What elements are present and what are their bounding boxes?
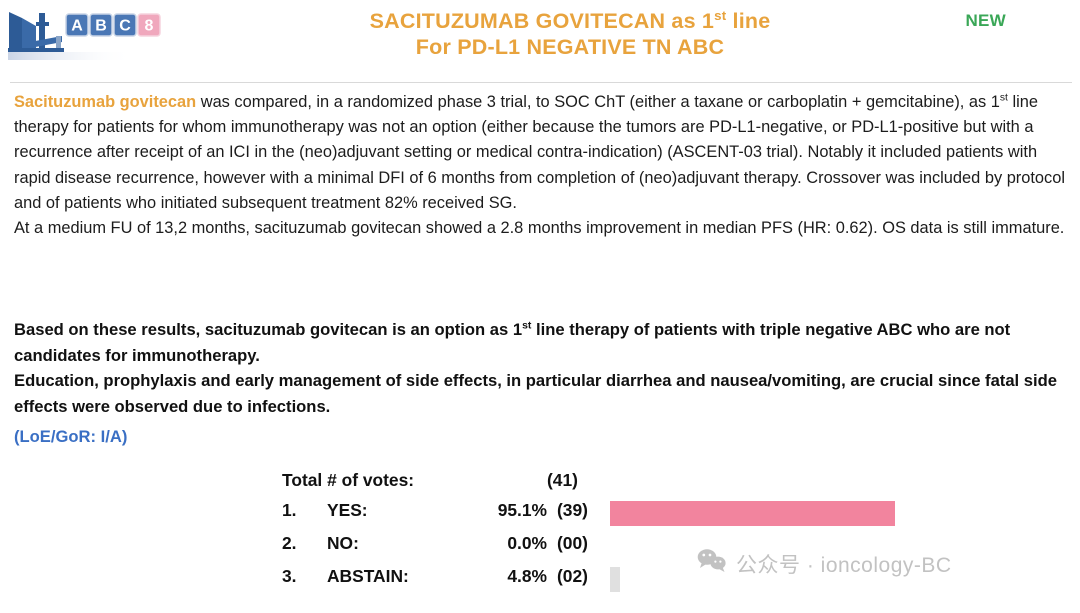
logo-tile-c: C	[119, 18, 131, 35]
vote-row-abstain-number: 3.	[282, 566, 297, 587]
header: A B C 8 SACITUZUMAB GOVITECAN as 1st lin…	[0, 0, 1080, 84]
title-superscript-st: st	[714, 8, 726, 23]
vote-total-label: Total # of votes:	[282, 470, 414, 491]
logo-tile-a: A	[71, 18, 83, 35]
vote-row-abstain-label: ABSTAIN:	[327, 566, 409, 587]
vote-row-yes-count: (39)	[557, 500, 588, 521]
vote-row-no: 2. NO: 0.0% (00)	[282, 533, 1072, 566]
vote-row-yes-percent: 95.1%	[462, 500, 547, 521]
slide-title: SACITUZUMAB GOVITECAN as 1st line For PD…	[300, 8, 840, 60]
vote-total-count: (41)	[547, 470, 578, 491]
conclusion-superscript-st: st	[522, 320, 531, 331]
title-line-1: SACITUZUMAB GOVITECAN as 1st line	[300, 8, 840, 34]
vote-row-yes-bar-track	[610, 501, 1030, 526]
drug-name-highlight: Sacituzumab govitecan	[14, 93, 196, 111]
vote-row-yes-label: YES:	[327, 500, 368, 521]
header-divider	[10, 82, 1072, 83]
vote-bar-yes	[610, 501, 895, 526]
vote-row-no-label: NO:	[327, 533, 359, 554]
conclusion-block: Based on these results, sacituzumab govi…	[14, 317, 1070, 419]
vote-total-row: Total # of votes: (41)	[282, 470, 1072, 500]
loe-gor-rating: (LoE/GoR: I/A)	[14, 427, 127, 447]
paragraph-1-superscript-st: st	[1000, 93, 1008, 104]
voting-results: Total # of votes: (41) 1. YES: 95.1% (39…	[282, 470, 1072, 599]
vote-row-abstain-bar-track	[610, 567, 1030, 592]
vote-row-no-percent: 0.0%	[462, 533, 547, 554]
new-badge: NEW	[965, 11, 1006, 31]
vote-row-abstain: 3. ABSTAIN: 4.8% (02)	[282, 566, 1072, 599]
vote-bar-abstain	[610, 567, 620, 592]
vote-row-yes: 1. YES: 95.1% (39)	[282, 500, 1072, 533]
vote-row-yes-number: 1.	[282, 500, 297, 521]
body-text: Sacituzumab govitecan was compared, in a…	[14, 90, 1070, 241]
logo-tile-8: 8	[145, 18, 154, 35]
vote-row-no-bar-track	[610, 534, 1030, 559]
conclusion-line-1-part-a: Based on these results, sacituzumab govi…	[14, 320, 522, 339]
vote-row-abstain-count: (02)	[557, 566, 588, 587]
abc8-logo: A B C 8	[6, 6, 166, 64]
paragraph-2: At a medium FU of 13,2 months, sacituzum…	[14, 216, 1070, 241]
title-line-2: For PD-L1 NEGATIVE TN ABC	[300, 34, 840, 60]
vote-row-no-number: 2.	[282, 533, 297, 554]
paragraph-1-part-a: was compared, in a randomized phase 3 tr…	[196, 93, 1000, 111]
vote-row-abstain-percent: 4.8%	[462, 566, 547, 587]
vote-row-no-count: (00)	[557, 533, 588, 554]
paragraph-1: Sacituzumab govitecan was compared, in a…	[14, 90, 1070, 216]
logo-tile-b: B	[95, 18, 107, 35]
conclusion-line-1: Based on these results, sacituzumab govi…	[14, 317, 1070, 368]
conclusion-line-2: Education, prophylaxis and early managem…	[14, 368, 1070, 419]
